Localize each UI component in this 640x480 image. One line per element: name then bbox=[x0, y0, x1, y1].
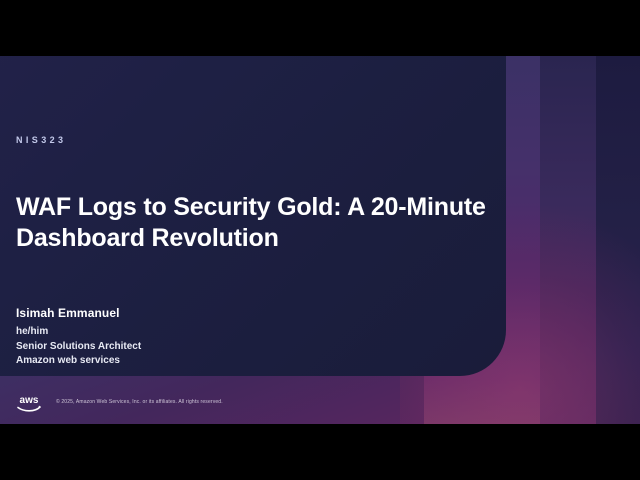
aws-logo-icon: aws bbox=[14, 392, 44, 414]
presentation-slide: NIS323 WAF Logs to Security Gold: A 20-M… bbox=[0, 56, 640, 424]
letterbox-bottom bbox=[0, 424, 640, 480]
svg-text:aws: aws bbox=[20, 395, 39, 406]
slide-stage: NIS323 WAF Logs to Security Gold: A 20-M… bbox=[0, 0, 640, 480]
copyright-text: © 2025, Amazon Web Services, Inc. or its… bbox=[56, 399, 223, 405]
session-code: NIS323 bbox=[16, 135, 66, 145]
speaker-pronouns: he/him bbox=[16, 325, 316, 340]
speaker-role: Senior Solutions Architect bbox=[16, 340, 316, 355]
slide-footer: aws © 2025, Amazon Web Services, Inc. or… bbox=[0, 386, 640, 424]
slide-content: NIS323 WAF Logs to Security Gold: A 20-M… bbox=[0, 56, 640, 424]
speaker-block: Isimah Emmanuel he/him Senior Solutions … bbox=[16, 306, 316, 369]
letterbox-top bbox=[0, 0, 640, 56]
speaker-name: Isimah Emmanuel bbox=[16, 306, 316, 320]
speaker-organization: Amazon web services bbox=[16, 354, 316, 369]
page-title: WAF Logs to Security Gold: A 20-Minute D… bbox=[16, 192, 516, 253]
